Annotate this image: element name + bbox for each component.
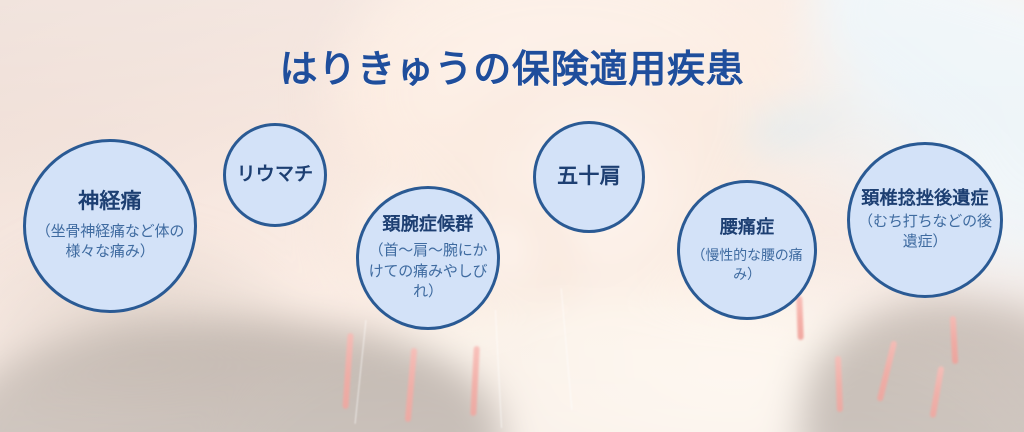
condition-bubble-cervical-sprain-sequelae[interactable]: 頚椎捻挫後遺症 （むち打ちなどの後遺症） [847,142,1003,298]
condition-heading: 五十肩 [557,165,621,190]
condition-bubble-rheumatism[interactable]: リウマチ [223,123,327,227]
condition-bubble-lumbago[interactable]: 腰痛症 （慢性的な腰の痛み） [677,180,817,320]
condition-bubble-neuralgia[interactable]: 神経痛 （坐骨神経痛など体の様々な痛み） [23,139,197,313]
infographic-canvas: はりきゅうの保険適用疾患 神経痛 （坐骨神経痛など体の様々な痛み） リウマチ 頚… [0,0,1024,432]
condition-description: （慢性的な腰の痛み） [688,246,806,284]
condition-heading: 神経痛 [78,190,142,215]
condition-bubble-cervicobrachial-syndrome[interactable]: 頚腕症候群 （首〜肩〜腕にかけての痛みやしびれ） [356,186,500,330]
condition-bubble-frozen-shoulder[interactable]: 五十肩 [533,121,645,233]
condition-description: （坐骨神経痛など体の様々な痛み） [34,222,186,262]
condition-heading: 腰痛症 [720,217,775,238]
condition-description: （むち打ちなどの後遺症） [858,212,992,252]
condition-heading: リウマチ [237,164,314,186]
page-title: はりきゅうの保険適用疾患 [0,38,1024,93]
condition-heading: 頚椎捻挫後遺症 [861,188,988,209]
condition-description: （首〜肩〜腕にかけての痛みやしびれ） [367,241,489,301]
condition-heading: 頚腕症候群 [383,214,474,235]
